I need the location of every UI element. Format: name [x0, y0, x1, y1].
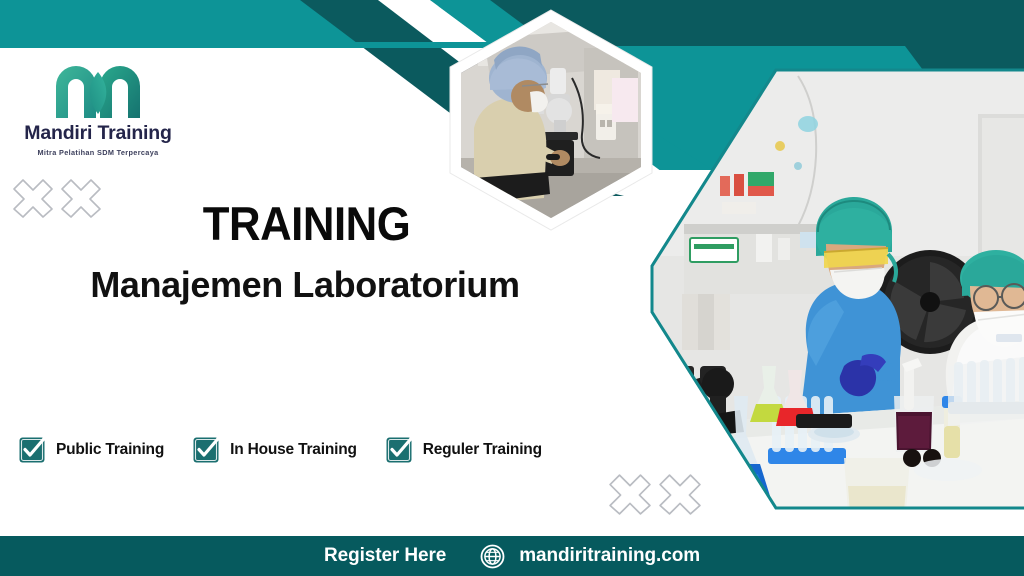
training-options-list: Public Training In House Training Re: [18, 435, 570, 464]
mandiri-m-arches-logo: [50, 58, 146, 120]
brand-tagline: Mitra Pelatihan SDM Terpercaya: [18, 149, 178, 156]
website-url[interactable]: mandiritraining.com: [519, 545, 700, 567]
option-label: In House Training: [230, 441, 357, 459]
register-label: Register Here: [324, 545, 446, 567]
globe-icon: [480, 544, 505, 569]
checkbox-checked-icon[interactable]: [385, 435, 414, 464]
checkbox-checked-icon[interactable]: [18, 435, 47, 464]
hex-photo-laboratory-team: [648, 66, 1024, 512]
checkbox-checked-icon[interactable]: [192, 435, 221, 464]
brand-logo: Mandiri Training Mitra Pelatihan SDM Ter…: [18, 58, 178, 156]
brand-name: Mandiri Training: [18, 124, 178, 144]
footer-bar: Register Here mandiritraining.com: [0, 536, 1024, 576]
option-reguler-training[interactable]: Reguler Training: [385, 435, 542, 464]
poster-canvas: Mandiri Training Mitra Pelatihan SDM Ter…: [0, 0, 1024, 576]
option-label: Reguler Training: [423, 441, 542, 459]
hex-photo-microscope-technician: [444, 8, 658, 232]
option-label: Public Training: [56, 441, 164, 459]
option-public-training[interactable]: Public Training: [18, 435, 164, 464]
option-in-house-training[interactable]: In House Training: [192, 435, 357, 464]
x-cross-icon: [608, 473, 652, 515]
page-title: Manajemen Laboratorium: [0, 267, 600, 303]
